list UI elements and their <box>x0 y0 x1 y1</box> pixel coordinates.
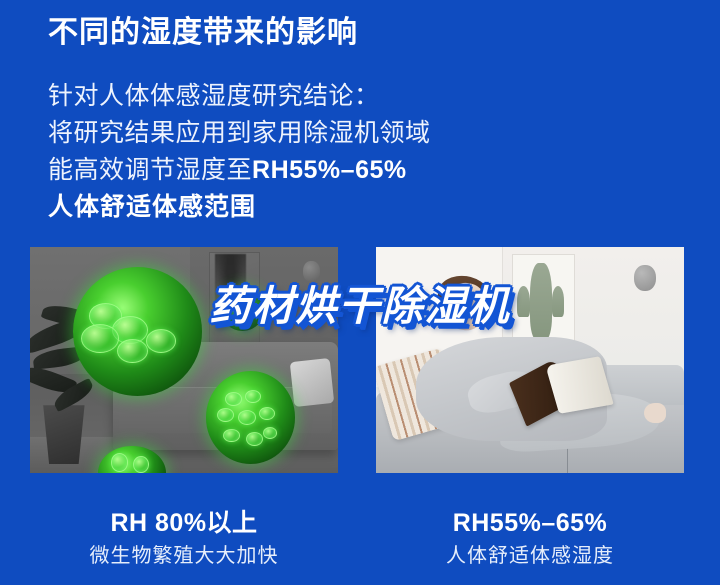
microbe-bud <box>245 390 261 403</box>
microbe-bud <box>246 432 263 446</box>
microbe-bud <box>259 407 275 420</box>
humidity-infographic-poster: 不同的湿度带来的影响 针对人体体感湿度研究结论： 将研究结果应用到家用除湿机领域… <box>0 0 720 585</box>
microbe-bud <box>146 329 176 353</box>
caption-subtitle: 微生物繁殖大大加快 <box>30 541 338 571</box>
intro-line-2: 将研究结果应用到家用除湿机领域 <box>48 115 688 152</box>
microbe-bud <box>263 427 278 439</box>
intro-line-3: 能高效调节湿度至RH55%–65% <box>48 152 688 189</box>
page-title: 不同的湿度带来的影响 <box>48 14 668 52</box>
microbe-cluster-bottom <box>206 371 295 464</box>
microbe-bud <box>217 408 234 422</box>
microbe-bud <box>133 456 149 473</box>
intro-line-4: 人体舒适体感范围 <box>48 189 688 226</box>
caption-high-humidity: RH 80%以上 微生物繁殖大大加快 <box>30 508 338 571</box>
intro-line-1: 针对人体体感湿度研究结论： <box>48 78 688 115</box>
microbe-bud <box>111 453 128 471</box>
microbe-bud <box>117 339 147 363</box>
sofa-pillow <box>290 358 335 407</box>
caption-subtitle: 人体舒适体感湿度 <box>376 541 684 571</box>
caption-comfort-humidity: RH55%–65% 人体舒适体感湿度 <box>376 508 684 571</box>
overlay-word-art: 药材烘干除湿机 <box>0 272 720 332</box>
caption-title: RH 80%以上 <box>30 508 338 538</box>
person-foot <box>644 403 666 423</box>
microbe-bud <box>238 410 256 425</box>
intro-paragraph: 针对人体体感湿度研究结论： 将研究结果应用到家用除湿机领域 能高效调节湿度至RH… <box>48 78 688 226</box>
microbe-bud <box>223 429 239 442</box>
caption-title: RH55%–65% <box>376 508 684 538</box>
intro-line-3-value: RH55%–65% <box>252 156 407 184</box>
microbe-bud <box>225 392 242 406</box>
intro-line-3-prefix: 能高效调节湿度至 <box>48 156 252 184</box>
